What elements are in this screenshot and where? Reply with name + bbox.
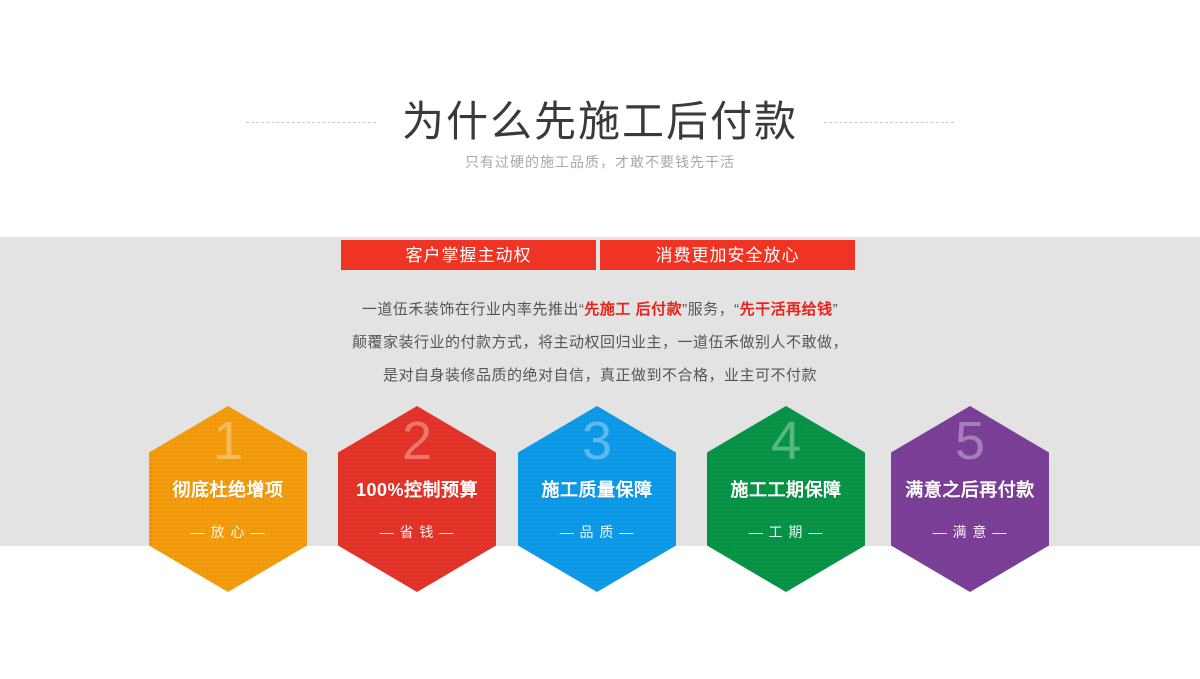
banner-label: 消费更加安全放心 <box>656 247 800 264</box>
hexagon-subtitle: — 满 意 — <box>933 522 1008 542</box>
paragraph-line-1: 一道伍禾装饰在行业内率先推出“先施工 后付款”服务，“先干活再给钱” <box>0 293 1200 326</box>
hexagon-title: 施工质量保障 <box>542 476 653 502</box>
page-header: 为什么先施工后付款 只有过硬的施工品质，才敢不要钱先干活 <box>0 0 1200 237</box>
hexagon-card-1[interactable]: 1 彻底杜绝增项 — 放 心 — <box>149 406 307 592</box>
paragraph-line-2: 颠覆家装行业的付款方式，将主动权回归业主，一道伍禾做别人不敢做， <box>0 326 1200 359</box>
paragraph-highlight-build-first: 先施工 后付款 <box>584 301 682 318</box>
hexagon-title: 满意之后再付款 <box>905 476 1035 502</box>
hexagon-title: 彻底杜绝增项 <box>173 476 284 502</box>
paragraph-text: ” <box>833 301 839 318</box>
hexagon-number: 2 <box>402 414 432 468</box>
paragraph-line-3: 是对自身装修品质的绝对自信，真正做到不合格，业主可不付款 <box>0 359 1200 392</box>
page-subtitle: 只有过硬的施工品质，才敢不要钱先干活 <box>0 152 1200 172</box>
hexagon-subtitle: — 省 钱 — <box>380 522 455 542</box>
title-divider-right-icon <box>824 122 954 123</box>
hexagon-row: 1 彻底杜绝增项 — 放 心 — 2 100%控制预算 — 省 钱 — 3 施工… <box>0 406 1200 596</box>
description-paragraph: 一道伍禾装饰在行业内率先推出“先施工 后付款”服务，“先干活再给钱” 颠覆家装行… <box>0 293 1200 392</box>
page-title: 为什么先施工后付款 <box>402 101 798 143</box>
hexagon-card-2[interactable]: 2 100%控制预算 — 省 钱 — <box>338 406 496 592</box>
hexagon-title: 100%控制预算 <box>356 476 478 502</box>
title-row: 为什么先施工后付款 <box>0 92 1200 152</box>
hexagon-number: 1 <box>213 414 243 468</box>
hexagon-card-5[interactable]: 5 满意之后再付款 — 满 意 — <box>891 406 1049 592</box>
banner-label: 客户掌握主动权 <box>406 247 532 264</box>
hexagon-number: 4 <box>771 414 801 468</box>
banner-row: 客户掌握主动权 消费更加安全放心 <box>341 240 855 270</box>
hexagon-subtitle: — 品 质 — <box>560 522 635 542</box>
paragraph-highlight-work-first: 先干活再给钱 <box>740 301 833 318</box>
paragraph-text: ”服务，“ <box>682 301 740 318</box>
hexagon-card-4[interactable]: 4 施工工期保障 — 工 期 — <box>707 406 865 592</box>
title-divider-left-icon <box>246 122 376 123</box>
paragraph-text: 一道伍禾装饰在行业内率先推出“ <box>362 301 585 318</box>
hexagon-card-3[interactable]: 3 施工质量保障 — 品 质 — <box>518 406 676 592</box>
hexagon-subtitle: — 放 心 — <box>191 522 266 542</box>
hexagon-title: 施工工期保障 <box>731 476 842 502</box>
banner-safe-spending[interactable]: 消费更加安全放心 <box>600 240 855 270</box>
hexagon-subtitle: — 工 期 — <box>749 522 824 542</box>
banner-customer-control[interactable]: 客户掌握主动权 <box>341 240 596 270</box>
hexagon-number: 5 <box>955 414 985 468</box>
hexagon-number: 3 <box>582 414 612 468</box>
